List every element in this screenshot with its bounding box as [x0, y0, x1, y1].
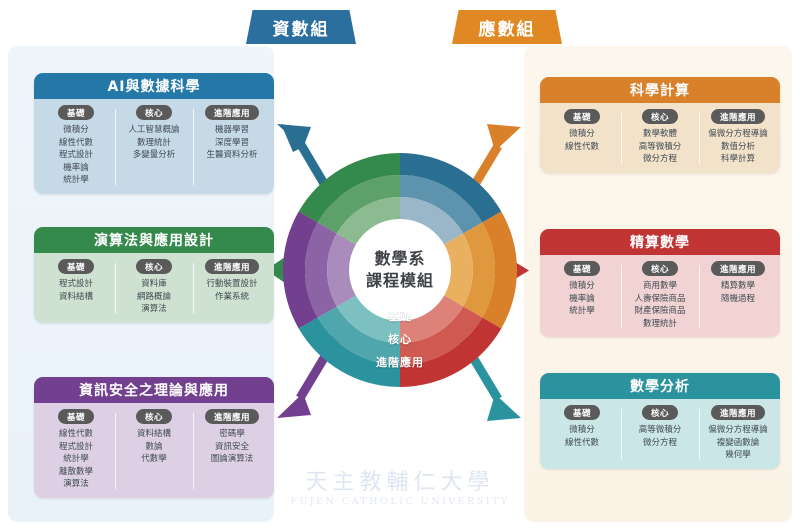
course-item: 隨機過程	[721, 293, 755, 306]
course-item: 密碼學	[219, 428, 245, 441]
donut-center-hub	[350, 220, 450, 320]
course-item: 圖論演算法	[211, 453, 254, 466]
column-pill-core: 核心	[136, 105, 172, 120]
banner-info-math-group: 資數組	[246, 10, 356, 44]
column-pill-core: 核心	[642, 405, 678, 420]
column-pill-basic: 基礎	[564, 261, 600, 276]
course-item: 數論	[145, 441, 162, 454]
card-body: 基礎 線性代數 程式設計 統計學 離散數學 演算法 核心 資料結構 數論 代數學…	[34, 403, 274, 498]
course-item: 線性代數	[59, 428, 93, 441]
course-item: 多變量分析	[133, 149, 176, 162]
card-title: 數學分析	[540, 373, 780, 399]
card-ai-data-science[interactable]: AI與數據科學 基礎 微積分 線性代數 程式設計 機率論 統計學 核心 人工智慧…	[34, 73, 274, 194]
column-advanced: 進階應用 偏微分方程導論 複變函數論 幾何學	[699, 405, 777, 462]
course-item: 財產保險商品	[634, 305, 685, 318]
course-item: 演算法	[141, 303, 167, 316]
column-advanced: 進階應用 偏微分方程導論 數值分析 科學計算	[699, 109, 777, 166]
course-item: 微分方程	[643, 153, 677, 166]
card-algorithms-application-design[interactable]: 演算法與應用設計 基礎 程式設計 資料結構 核心 資料庫 網路概論 演算法 進階…	[34, 227, 274, 323]
course-item: 行動裝置設計	[206, 278, 257, 291]
column-pill-advanced: 進階應用	[205, 259, 259, 274]
card-body: 基礎 程式設計 資料結構 核心 資料庫 網路概論 演算法 進階應用 行動裝置設計…	[34, 253, 274, 323]
course-item: 數理統計	[137, 137, 171, 150]
card-title: AI與數據科學	[34, 73, 274, 99]
course-item: 複變函數論	[717, 437, 760, 450]
course-item: 資料結構	[59, 291, 93, 304]
card-body: 基礎 微積分 線性代數 核心 數學軟體 高等微積分 微分方程 進階應用 偏微分方…	[540, 103, 780, 173]
course-item: 微積分	[63, 124, 89, 137]
diagram-canvas: 天主教輔仁大學 FUJEN CATHOLIC UNIVERSITY	[0, 0, 800, 530]
column-core: 核心 資料結構 數論 代數學	[115, 409, 193, 491]
course-item: 機器學習	[215, 124, 249, 137]
card-mathematical-analysis[interactable]: 數學分析 基礎 微積分 線性代數 核心 高等微積分 微分方程 進階應用 偏微分方…	[540, 373, 780, 469]
card-body: 基礎 微積分 線性代數 核心 高等微積分 微分方程 進階應用 偏微分方程導論 複…	[540, 399, 780, 469]
card-information-security[interactable]: 資訊安全之理論與應用 基礎 線性代數 程式設計 統計學 離散數學 演算法 核心 …	[34, 377, 274, 498]
column-advanced: 進階應用 密碼學 資訊安全 圖論演算法	[193, 409, 271, 491]
column-core: 核心 資料庫 網路概論 演算法	[115, 259, 193, 316]
course-item: 線性代數	[59, 137, 93, 150]
course-item: 偏微分方程導論	[708, 424, 768, 437]
column-pill-core: 核心	[136, 409, 172, 424]
course-item: 數值分析	[721, 141, 755, 154]
course-module-donut: 數學系 課程模組 基礎 核心 進階應用	[283, 153, 517, 387]
course-item: 深度學習	[215, 137, 249, 150]
banner-applied-math-group: 應數組	[452, 10, 562, 44]
card-title: 科學計算	[540, 77, 780, 103]
course-item: 統計學	[63, 453, 89, 466]
course-item: 離散數學	[59, 466, 93, 479]
banner-right-label: 應數組	[479, 15, 536, 40]
column-basic: 基礎 微積分 線性代數	[543, 109, 621, 166]
column-advanced: 進階應用 行動裝置設計 作業系統	[193, 259, 271, 316]
course-item: 機率論	[569, 293, 595, 306]
card-title: 演算法與應用設計	[34, 227, 274, 253]
course-item: 程式設計	[59, 278, 93, 291]
column-pill-core: 核心	[642, 261, 678, 276]
course-item: 高等微積分	[639, 424, 682, 437]
course-item: 程式設計	[59, 149, 93, 162]
column-core: 核心 數學軟體 高等微積分 微分方程	[621, 109, 699, 166]
course-item: 數理統計	[643, 318, 677, 331]
column-core: 核心 商用數學 人壽保險商品 財產保險商品 數理統計	[621, 261, 699, 330]
column-pill-core: 核心	[642, 109, 678, 124]
course-item: 資訊安全	[215, 441, 249, 454]
course-item: 作業系統	[215, 291, 249, 304]
course-item: 線性代數	[565, 141, 599, 154]
course-item: 偏微分方程導論	[708, 128, 768, 141]
column-core: 核心 人工智慧概論 數理統計 多變量分析	[115, 105, 193, 187]
course-item: 微分方程	[643, 437, 677, 450]
course-item: 高等微積分	[639, 141, 682, 154]
course-item: 資料庫	[141, 278, 167, 291]
column-pill-basic: 基礎	[564, 405, 600, 420]
column-basic: 基礎 微積分 機率論 統計學	[543, 261, 621, 330]
course-item: 幾何學	[725, 449, 751, 462]
course-item: 精算數學	[721, 280, 755, 293]
card-scientific-computing[interactable]: 科學計算 基礎 微積分 線性代數 核心 數學軟體 高等微積分 微分方程 進階應用…	[540, 77, 780, 173]
course-item: 微積分	[569, 280, 595, 293]
course-item: 微積分	[569, 424, 595, 437]
card-title: 資訊安全之理論與應用	[34, 377, 274, 403]
course-item: 演算法	[63, 478, 89, 491]
column-core: 核心 高等微積分 微分方程	[621, 405, 699, 462]
course-item: 資料結構	[137, 428, 171, 441]
card-actuarial-mathematics[interactable]: 精算數學 基礎 微積分 機率論 統計學 核心 商用數學 人壽保險商品 財產保險商…	[540, 229, 780, 337]
column-pill-advanced: 進階應用	[711, 261, 765, 276]
column-pill-advanced: 進階應用	[711, 109, 765, 124]
donut-svg	[283, 153, 517, 387]
column-pill-basic: 基礎	[58, 259, 94, 274]
card-title: 精算數學	[540, 229, 780, 255]
course-item: 科學計算	[721, 153, 755, 166]
course-item: 代數學	[141, 453, 167, 466]
course-item: 生醫資料分析	[206, 149, 257, 162]
card-body: 基礎 微積分 機率論 統計學 核心 商用數學 人壽保險商品 財產保險商品 數理統…	[540, 255, 780, 337]
course-item: 統計學	[569, 305, 595, 318]
course-item: 商用數學	[643, 280, 677, 293]
column-pill-advanced: 進階應用	[205, 105, 259, 120]
column-pill-basic: 基礎	[58, 409, 94, 424]
column-pill-basic: 基礎	[564, 109, 600, 124]
course-item: 數學軟體	[643, 128, 677, 141]
column-pill-core: 核心	[136, 259, 172, 274]
course-item: 人工智慧概論	[128, 124, 179, 137]
banner-left-label: 資數組	[273, 15, 330, 40]
course-item: 統計學	[63, 174, 89, 187]
column-basic: 基礎 微積分 線性代數	[543, 405, 621, 462]
column-pill-advanced: 進階應用	[711, 405, 765, 420]
column-basic: 基礎 程式設計 資料結構	[37, 259, 115, 316]
card-body: 基礎 微積分 線性代數 程式設計 機率論 統計學 核心 人工智慧概論 數理統計 …	[34, 99, 274, 194]
column-pill-basic: 基礎	[58, 105, 94, 120]
course-item: 程式設計	[59, 441, 93, 454]
course-item: 人壽保險商品	[634, 293, 685, 306]
column-advanced: 進階應用 精算數學 隨機過程	[699, 261, 777, 330]
course-item: 機率論	[63, 162, 89, 175]
course-item: 微積分	[569, 128, 595, 141]
column-advanced: 進階應用 機器學習 深度學習 生醫資料分析	[193, 105, 271, 187]
column-basic: 基礎 線性代數 程式設計 統計學 離散數學 演算法	[37, 409, 115, 491]
course-item: 線性代數	[565, 437, 599, 450]
course-item: 網路概論	[137, 291, 171, 304]
column-pill-advanced: 進階應用	[205, 409, 259, 424]
column-basic: 基礎 微積分 線性代數 程式設計 機率論 統計學	[37, 105, 115, 187]
